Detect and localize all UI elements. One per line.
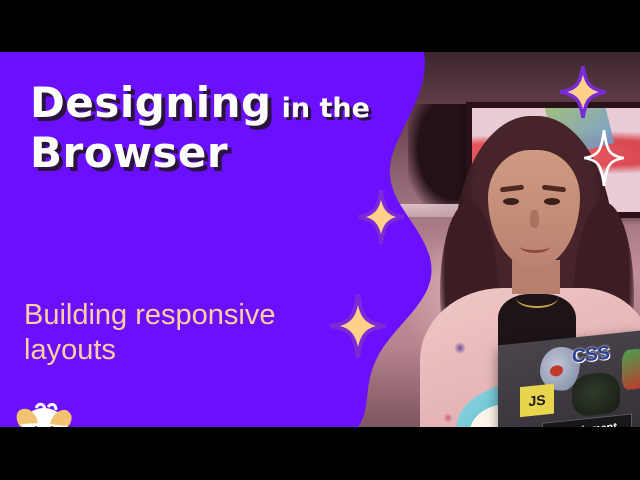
presenter-eye-right [544,198,560,205]
presenter-smile [520,240,550,253]
sparkle-shelf-icon [584,130,624,186]
subtitle: Building responsive layouts [24,298,364,369]
video-thumbnail: JS CSS Erpxiement CENTERED [0,0,640,480]
sparkle-artwork-icon [560,66,606,118]
dog-mascot-logo [6,400,82,427]
title-in-the: in the [282,93,370,124]
title-block: Designingin the Browser [30,81,370,176]
sticker-js: JS [520,384,554,418]
title-line-1: Designingin the [30,81,370,125]
video-frame: JS CSS Erpxiement CENTERED [0,52,640,427]
sticker-css: CSS [572,344,610,367]
title-line-2: Browser [30,129,370,176]
sparkle-sling-icon [330,294,386,358]
presenter-eye-left [503,198,519,205]
presenter-necklace [516,288,558,308]
presenter-nose [530,210,539,228]
sparkle-shoulder-icon [358,190,404,244]
letterbox-top [0,0,640,52]
laptop-lid: JS CSS Erpxiement CENTERED [498,331,640,427]
letterbox-bottom [0,427,640,480]
sticker-dinosaur-icon [572,371,620,418]
sticker-green-icon [622,348,640,390]
title-main-word: Designing [30,78,272,127]
